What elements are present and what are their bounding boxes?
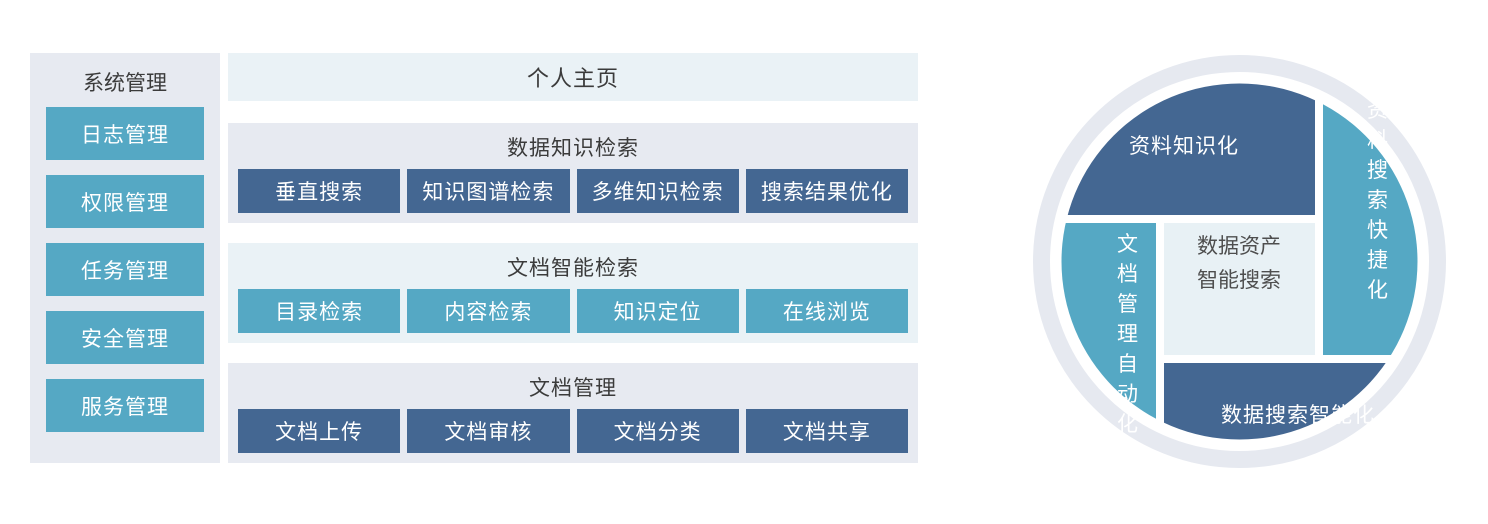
sidebar-item-task-management[interactable]: 任务管理 — [46, 243, 204, 296]
chip-online-browsing[interactable]: 在线浏览 — [746, 289, 908, 333]
svg-text:自: 自 — [1117, 353, 1139, 376]
svg-text:理: 理 — [1117, 323, 1139, 346]
svg-text:料: 料 — [1367, 129, 1389, 152]
segment-right-label: 资 料 搜 索 快 捷 化 — [1367, 99, 1389, 302]
svg-text:化: 化 — [1367, 279, 1389, 302]
chip-catalog-search[interactable]: 目录检索 — [238, 289, 400, 333]
section-document-management: 文档管理 文档上传 文档审核 文档分类 文档共享 — [228, 363, 918, 463]
svg-text:文: 文 — [1117, 233, 1139, 256]
module-panels: 个人主页 数据知识检索 垂直搜索 知识图谱检索 多维知识检索 搜索结果优化 文档… — [228, 53, 918, 483]
segment-bottom-label: 数据搜索智能化 — [1221, 404, 1375, 427]
chip-row: 目录检索 内容检索 知识定位 在线浏览 — [238, 289, 908, 333]
chip-document-review[interactable]: 文档审核 — [407, 409, 569, 453]
svg-text:捷: 捷 — [1367, 249, 1389, 272]
segment-top-label: 资料知识化 — [1129, 135, 1239, 158]
section-title: 数据知识检索 — [238, 131, 908, 169]
pinwheel-svg: 资料知识化 数据搜索智能化 数据资产 智能搜索 资 料 搜 索 快 捷 化 文 … — [1033, 55, 1446, 468]
svg-text:管: 管 — [1117, 293, 1139, 316]
section-data-knowledge-retrieval: 数据知识检索 垂直搜索 知识图谱检索 多维知识检索 搜索结果优化 — [228, 123, 918, 223]
chip-knowledge-location[interactable]: 知识定位 — [577, 289, 739, 333]
svg-text:化: 化 — [1117, 413, 1139, 436]
svg-text:资: 资 — [1367, 99, 1389, 122]
segment-left-label: 文 档 管 理 自 动 化 — [1117, 233, 1139, 436]
svg-text:搜: 搜 — [1367, 159, 1389, 182]
sidebar-item-service-management[interactable]: 服务管理 — [46, 379, 204, 432]
chip-document-upload[interactable]: 文档上传 — [238, 409, 400, 453]
pinwheel-diagram: 资料知识化 数据搜索智能化 数据资产 智能搜索 资 料 搜 索 快 捷 化 文 … — [1033, 55, 1446, 468]
sidebar-item-security-management[interactable]: 安全管理 — [46, 311, 204, 364]
svg-text:动: 动 — [1117, 383, 1139, 406]
personal-homepage-banner[interactable]: 个人主页 — [228, 53, 918, 101]
segment-center-label-line2: 智能搜索 — [1197, 269, 1281, 292]
segment-center-label-line1: 数据资产 — [1197, 235, 1281, 258]
chip-row: 文档上传 文档审核 文档分类 文档共享 — [238, 409, 908, 453]
chip-document-share[interactable]: 文档共享 — [746, 409, 908, 453]
chip-search-result-optimization[interactable]: 搜索结果优化 — [746, 169, 908, 213]
system-management-sidebar: 系统管理 日志管理 权限管理 任务管理 安全管理 服务管理 — [30, 53, 220, 463]
section-title: 文档智能检索 — [238, 251, 908, 289]
chip-content-search[interactable]: 内容检索 — [407, 289, 569, 333]
chip-document-classification[interactable]: 文档分类 — [577, 409, 739, 453]
sidebar-item-permission-management[interactable]: 权限管理 — [46, 175, 204, 228]
chip-knowledge-graph-search[interactable]: 知识图谱检索 — [407, 169, 569, 213]
chip-multidimensional-knowledge-search[interactable]: 多维知识检索 — [577, 169, 739, 213]
svg-text:快: 快 — [1367, 219, 1389, 242]
sidebar-title: 系统管理 — [46, 67, 204, 107]
svg-text:档: 档 — [1117, 263, 1139, 286]
svg-text:索: 索 — [1367, 189, 1389, 212]
chip-vertical-search[interactable]: 垂直搜索 — [238, 169, 400, 213]
section-document-intelligent-retrieval: 文档智能检索 目录检索 内容检索 知识定位 在线浏览 — [228, 243, 918, 343]
section-title: 文档管理 — [238, 371, 908, 409]
chip-row: 垂直搜索 知识图谱检索 多维知识检索 搜索结果优化 — [238, 169, 908, 213]
page-root: 系统管理 日志管理 权限管理 任务管理 安全管理 服务管理 个人主页 数据知识检… — [0, 0, 1488, 524]
sidebar-item-log-management[interactable]: 日志管理 — [46, 107, 204, 160]
